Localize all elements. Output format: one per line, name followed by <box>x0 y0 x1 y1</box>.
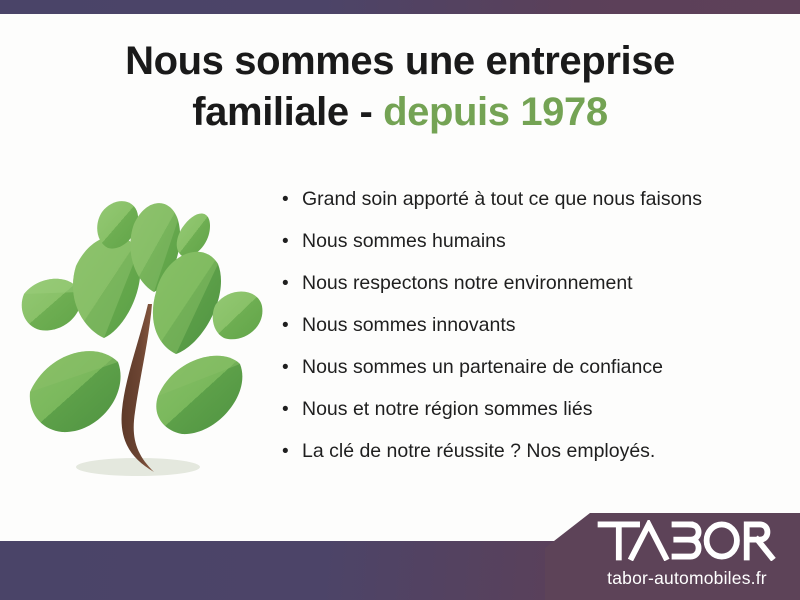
leaf-upper-left <box>73 236 141 338</box>
leaf-mid-right <box>213 291 263 339</box>
list-item: • Nous sommes innovants <box>282 316 782 358</box>
list-item-label: Nous et notre région sommes liés <box>302 400 592 420</box>
list-item: • La clé de notre réussite ? Nos employé… <box>282 442 782 484</box>
leaf-lower-left <box>30 351 121 432</box>
list-item: • Nous sommes un partenaire de confiance <box>282 358 782 400</box>
value-bullet-list: • Grand soin apporté à tout ce que nous … <box>282 190 782 484</box>
list-item: • Nous sommes humains <box>282 232 782 274</box>
bullet-marker-icon: • <box>282 400 302 419</box>
top-brand-bar <box>0 0 800 14</box>
bullet-marker-icon: • <box>282 316 302 335</box>
slide-canvas: Nous sommes une entreprise familiale - d… <box>0 0 800 600</box>
leaf-mid-left <box>22 279 81 331</box>
bullet-marker-icon: • <box>282 232 302 251</box>
list-item: • Nous et notre région sommes liés <box>282 400 782 442</box>
headline-line-1: Nous sommes une entreprise <box>125 39 675 83</box>
list-item: • Grand soin apporté à tout ce que nous … <box>282 190 782 232</box>
brand-logo[interactable]: tabor-automobiles.fr <box>560 508 800 600</box>
leaf-lower-right <box>156 356 242 434</box>
list-item-label: Nous sommes innovants <box>302 316 516 336</box>
list-item-label: Nous sommes un partenaire de confiance <box>302 358 663 378</box>
leaf-top-small-right <box>177 213 210 256</box>
tabor-wordmark-icon <box>597 520 777 566</box>
headline-line-2: familiale - depuis 1978 <box>0 87 800 138</box>
list-item-label: La clé de notre réussite ? Nos employés. <box>302 442 655 462</box>
list-item: • Nous respectons notre environnement <box>282 274 782 316</box>
bullet-marker-icon: • <box>282 190 302 209</box>
logo-website-url[interactable]: tabor-automobiles.fr <box>607 568 767 589</box>
tree-trunk <box>122 304 154 472</box>
tree-shadow <box>76 458 200 476</box>
list-item-label: Nous sommes humains <box>302 232 506 252</box>
bullet-marker-icon: • <box>282 274 302 293</box>
bullet-marker-icon: • <box>282 442 302 461</box>
list-item-label: Grand soin apporté à tout ce que nous fa… <box>302 190 702 210</box>
page-title: Nous sommes une entreprise familiale - d… <box>0 36 800 138</box>
headline-accent: depuis 1978 <box>383 90 608 134</box>
tree-illustration <box>18 182 273 487</box>
list-item-label: Nous respectons notre environnement <box>302 274 633 294</box>
bullet-marker-icon: • <box>282 358 302 377</box>
headline-line-2-plain: familiale - <box>192 90 372 134</box>
